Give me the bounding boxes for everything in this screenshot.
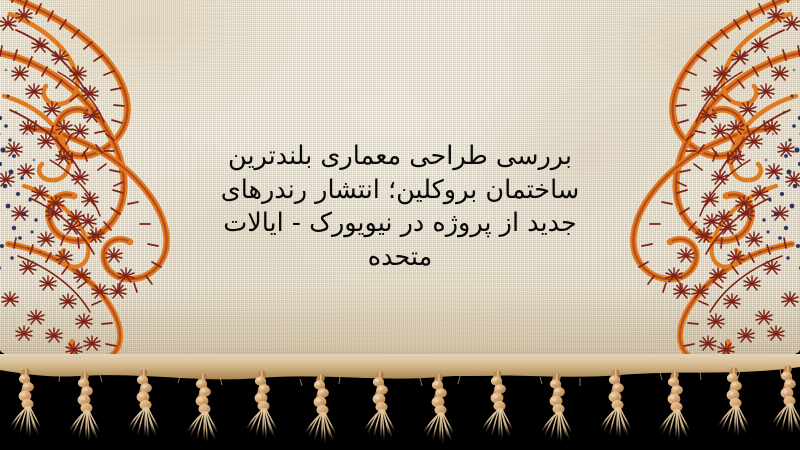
tassel (773, 369, 800, 433)
tassel (129, 373, 158, 437)
banner-title: بررسی طراحی معماری بلندترین ساختمان بروک… (170, 140, 630, 274)
tassel (365, 375, 394, 439)
tassel (11, 372, 40, 436)
tassel (601, 373, 630, 437)
tassel (542, 377, 571, 441)
tassel (247, 374, 276, 438)
banner-title-block: بررسی طراحی معماری بلندترین ساختمان بروک… (0, 140, 800, 274)
tassel (70, 376, 99, 440)
tassel (306, 378, 335, 442)
tassel (188, 377, 217, 441)
tassel (719, 371, 748, 435)
banner-canvas: بررسی طراحی معماری بلندترین ساختمان بروک… (0, 0, 800, 450)
tassel (424, 378, 453, 442)
tassel (660, 375, 689, 439)
tassel (483, 374, 512, 438)
